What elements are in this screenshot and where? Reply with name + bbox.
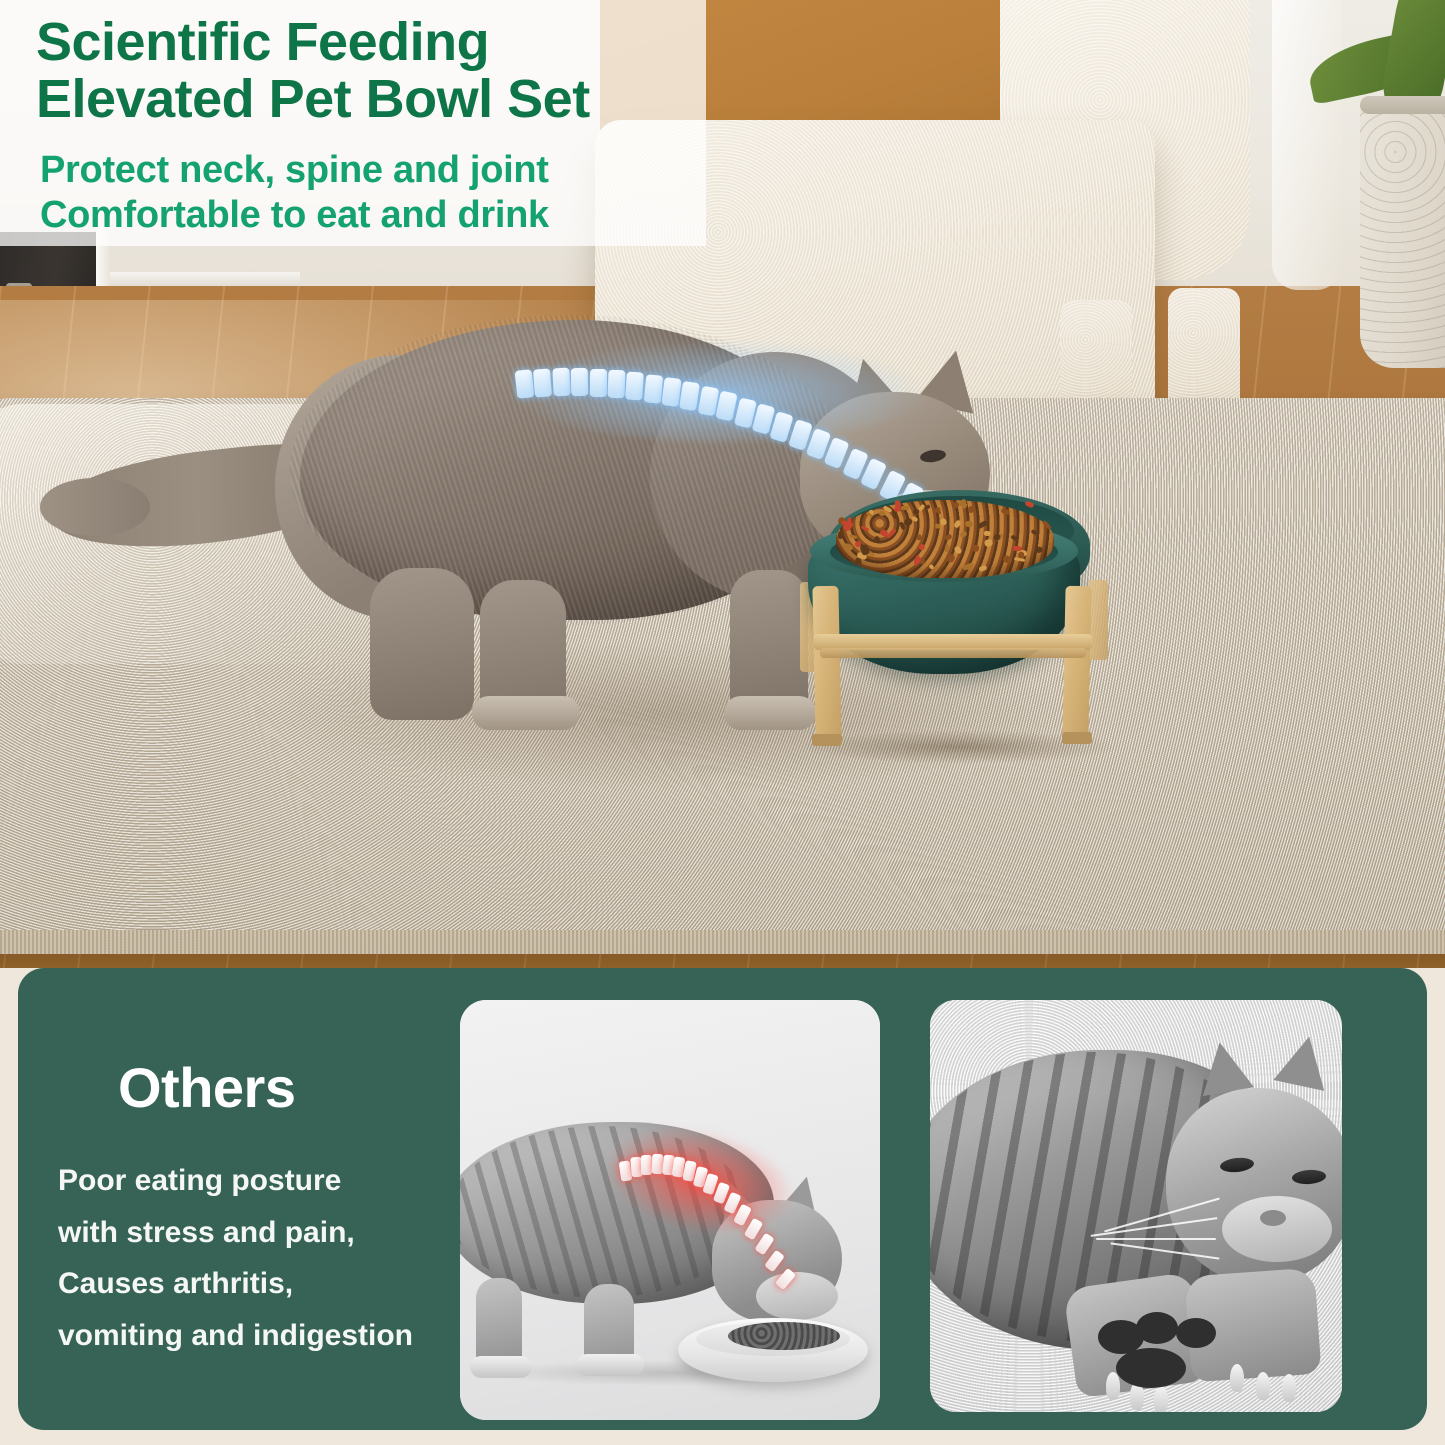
glass-vase [1272,0,1342,290]
thumb-a-kitten-paw [470,1356,532,1378]
vertebra-segment [643,374,663,403]
kibble-piece [879,510,886,516]
kibble-piece [854,558,861,566]
thumb-b-cat-muzzle [1222,1196,1332,1262]
kibble-piece [1000,508,1010,516]
vertebra-segment [533,368,552,397]
stand-foot-right [1062,732,1092,744]
stand-leg-front-right [1062,586,1091,739]
kibble-piece [984,538,994,547]
kibble-piece [972,545,979,553]
thumb-b-cat-ear [1194,1038,1254,1096]
cat-paw-pad [1116,1348,1186,1388]
thumb-a-kitten-muzzle [756,1272,838,1320]
kibble-piece [1002,555,1013,565]
healthy-spine-overlay [510,330,930,450]
concrete-plant-pot [1360,98,1445,368]
kibble-piece [1034,546,1043,553]
vertebra-segment [607,370,625,399]
vertebra-segment [641,1155,653,1175]
cat-paw-pad [1136,1312,1178,1344]
kibble-piece [860,525,869,531]
kibble-piece [946,553,956,563]
thumb-sick-cat [930,1000,1342,1412]
hero-scene: Scientific Feeding Elevated Pet Bowl Set… [0,0,1445,968]
thumb-poor-posture [460,1000,880,1420]
cat-paw [472,696,580,730]
cat-claw [1256,1372,1270,1400]
cat-claw [1282,1374,1296,1402]
kibble-piece [1030,529,1038,536]
thumb-a-wet-food [728,1322,840,1350]
kibble-piece [843,543,855,552]
vertebra-segment [661,377,681,407]
kibble-piece [954,545,963,555]
kibble-piece [847,517,851,526]
kibble-piece [953,519,961,528]
stand-rail-lower [820,648,1086,658]
kibble-piece [959,530,968,538]
rug-fringe-edge [0,930,1445,954]
cat-claw [1230,1364,1244,1392]
kibble-piece [978,565,987,572]
vertebra-segment [571,368,589,396]
kibble-piece [984,531,991,536]
kibble-piece [838,531,844,539]
plant-pot-rim [1360,96,1445,114]
vertebra-segment [625,372,644,401]
kibble-piece [965,520,974,527]
vertebra-segment [589,369,606,397]
comparison-heading: Others [118,1055,296,1120]
cat-paw-pad [1176,1318,1216,1348]
comparison-body-text: Poor eating posture with stress and pain… [58,1155,458,1361]
kibble-piece [894,507,901,512]
kibble-piece [918,543,925,550]
kibble-piece [886,528,897,539]
product-poster: Scientific Feeding Elevated Pet Bowl Set… [0,0,1445,1445]
kibble-piece [944,544,949,552]
cat-claw [1106,1372,1120,1400]
kibble-piece [926,504,932,510]
thumb-b-cat-nose [1260,1210,1286,1226]
cat-hind-leg [370,568,474,720]
kibble-piece [892,511,899,520]
kibble-food [836,500,1054,578]
kibble-piece [944,534,952,541]
kibble-piece [939,517,947,526]
cat-tail-tip [40,478,150,536]
kibble-piece [901,505,909,509]
stand-foot-left [812,734,842,746]
kibble-piece [1012,546,1021,552]
page-title: Scientific Feeding Elevated Pet Bowl Set [36,14,696,128]
page-subtitle: Protect neck, spine and joint Comfortabl… [40,148,700,238]
kibble-piece [918,504,926,512]
kibble-piece [935,523,941,529]
kibble-piece [929,563,935,569]
kibble-piece [968,506,976,514]
vertebra-segment [515,369,535,399]
kibble-piece [920,557,925,565]
thumb-b-cat-ear [1273,1031,1334,1091]
cat-whisker [1096,1238,1216,1240]
cat-claw [1154,1386,1168,1412]
kibble-piece [963,562,975,571]
kibble-piece [913,509,919,515]
vertebra-segment [552,368,570,397]
stand-leg-front-left [812,586,841,741]
kibble-piece [977,520,989,530]
kibble-piece [874,535,880,542]
thumb-a-kitten-paw [576,1354,644,1376]
elevated-bowl-set [800,482,1110,772]
kibble-piece [849,534,857,540]
kibble-piece [916,534,921,540]
kibble-piece [1011,534,1018,541]
